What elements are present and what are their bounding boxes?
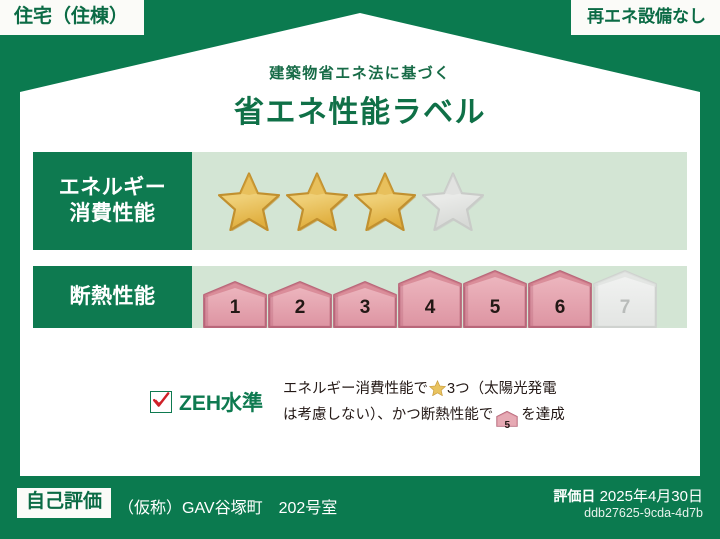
star-rating <box>192 171 484 231</box>
evaluation-date: 評価日 2025年4月30日 <box>553 485 703 506</box>
insulation-grade-3: 3 <box>333 281 397 328</box>
row-energy-label-line2: 消費性能 <box>70 201 156 227</box>
insulation-grade-2: 2 <box>268 281 332 328</box>
inline-grade-number: 5 <box>493 421 521 431</box>
badge-evaluation-type: 自己評価 <box>17 488 111 518</box>
star-icon <box>429 380 446 404</box>
zeh-desc-part1: エネルギー消費性能で <box>283 381 428 397</box>
zeh-label: ZEH水準 <box>179 387 263 417</box>
zeh-checkbox-row: ZEH水準 <box>150 387 263 417</box>
page-subtitle: 建築物省エネ法に基づく <box>0 62 720 83</box>
row-energy-performance: エネルギー 消費性能 <box>33 152 687 250</box>
building-name: （仮称）GAV谷塚町 202号室 <box>118 494 337 518</box>
insulation-grade-4: 4 <box>398 270 462 328</box>
inline-grade-badge: 5 <box>493 408 521 431</box>
badge-renewable-equipment: 再エネ設備なし <box>571 0 720 35</box>
zeh-desc-part2: 3つ（太陽光発電 <box>447 381 557 397</box>
evaluation-date-value: 2025年4月30日 <box>600 488 703 505</box>
row-insulation-label: 断熱性能 <box>33 266 192 328</box>
row-insulation-panel: 1234567 <box>192 266 687 328</box>
label-id: ddb27625-9cda-4d7b <box>584 506 703 520</box>
check-icon <box>150 391 172 413</box>
star-icon <box>422 171 484 231</box>
row-energy-label: エネルギー 消費性能 <box>33 152 192 250</box>
page-main-title: 省エネ性能ラベル <box>0 87 720 131</box>
insulation-grade-5: 5 <box>463 270 527 328</box>
page-title: 建築物省エネ法に基づく 省エネ性能ラベル <box>0 62 720 131</box>
row-insulation-label-text: 断熱性能 <box>70 284 156 310</box>
zeh-desc-part3: は考慮しない）、かつ断熱性能で <box>283 407 493 423</box>
footer-bar: 自己評価 （仮称）GAV谷塚町 202号室 評価日 2025年4月30日 ddb… <box>0 476 720 539</box>
evaluation-date-label: 評価日 <box>553 488 595 504</box>
zeh-description: エネルギー消費性能で3つ（太陽光発電 は考慮しない）、かつ断熱性能で5を達成 <box>283 378 583 432</box>
energy-performance-label: 住宅（住棟） 再エネ設備なし 建築物省エネ法に基づく 省エネ性能ラベル エネルギ… <box>0 0 720 539</box>
insulation-grade-1: 1 <box>203 281 267 328</box>
star-icon <box>218 171 280 231</box>
insulation-grade-6: 6 <box>528 270 592 328</box>
row-energy-label-line1: エネルギー <box>59 175 167 201</box>
row-insulation-performance: 断熱性能 1234567 <box>33 266 687 328</box>
star-icon <box>354 171 416 231</box>
zeh-standard-note: ZEH水準 エネルギー消費性能で3つ（太陽光発電 は考慮しない）、かつ断熱性能で… <box>150 378 583 432</box>
badge-housing-type: 住宅（住棟） <box>0 0 144 35</box>
insulation-grade-scale: 1234567 <box>192 266 657 328</box>
zeh-desc-part4: を達成 <box>521 407 565 423</box>
row-energy-panel <box>192 152 687 250</box>
star-icon <box>286 171 348 231</box>
insulation-grade-7: 7 <box>593 270 657 328</box>
